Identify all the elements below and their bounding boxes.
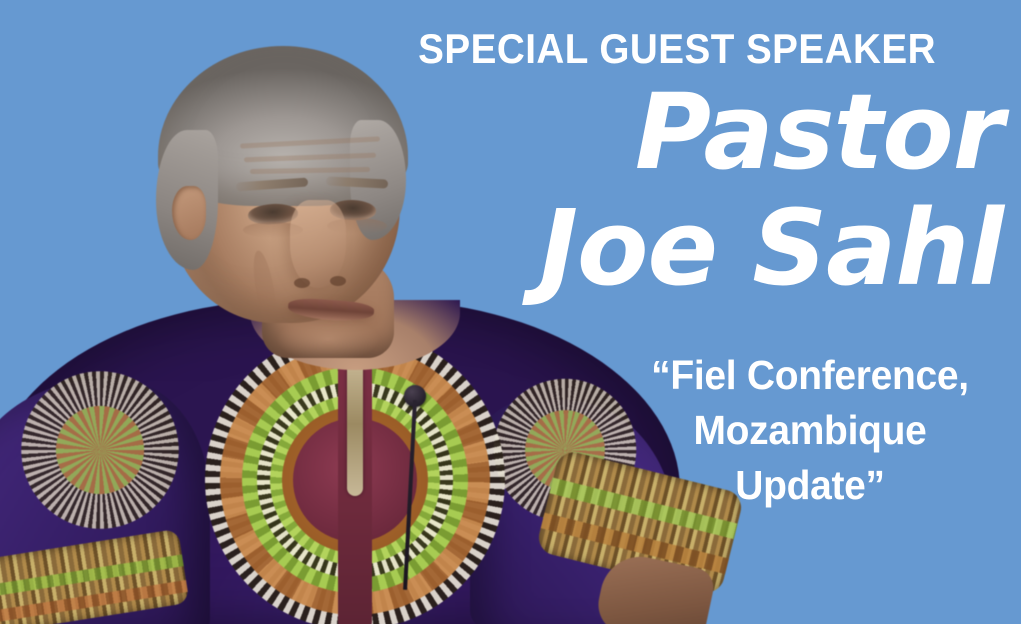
talk-title: “Fiel Conference, Mozambique Update”: [611, 348, 1010, 513]
poster-text-overlay: SPECIAL GUEST SPEAKER Pastor Joe Sahl “F…: [0, 0, 1021, 624]
talk-title-line-3: Update”: [611, 458, 1010, 513]
talk-title-line-2: Mozambique: [611, 403, 1010, 458]
speaker-name-line-2: Joe Sahl: [360, 196, 1015, 300]
speaker-announcement-poster: SPECIAL GUEST SPEAKER Pastor Joe Sahl “F…: [0, 0, 1021, 624]
talk-title-line-1: “Fiel Conference,: [611, 348, 1010, 403]
kicker-heading: SPECIAL GUEST SPEAKER: [418, 26, 928, 72]
speaker-name-line-1: Pastor: [360, 80, 1015, 184]
